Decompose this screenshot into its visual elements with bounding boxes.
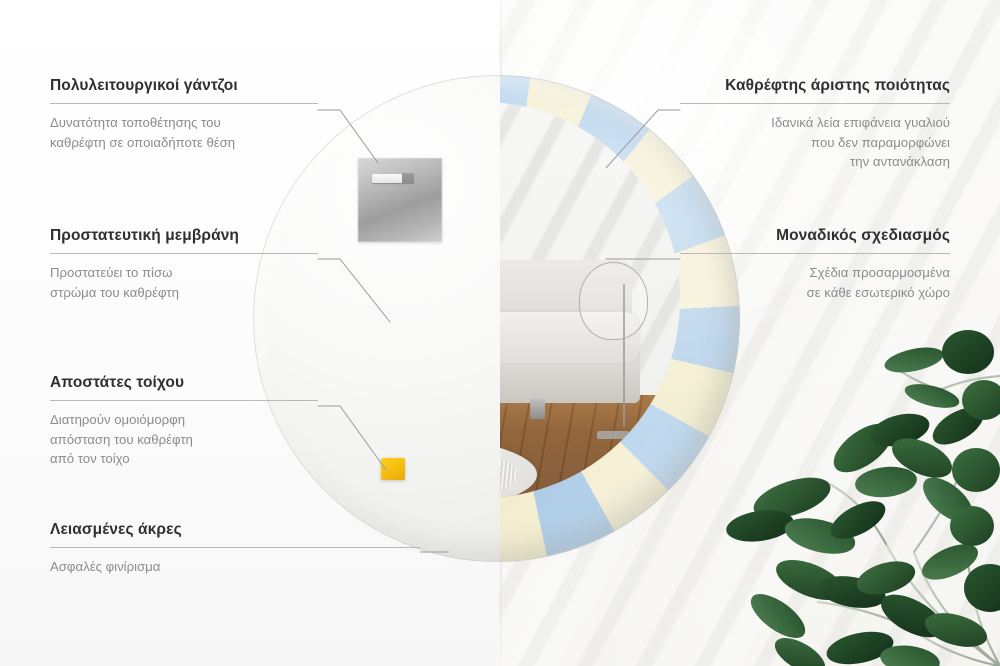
feature-rule-design [680, 253, 950, 254]
feature-title-quality: Καθρέφτης άριστης ποιότητας [680, 76, 950, 95]
feature-desc-line: Διατηρούν ομοιόμορφη [50, 412, 185, 427]
feature-desc-line: Σχέδια προσαρμοσμένα [810, 265, 950, 280]
feature-title-membrane: Προστατευτική μεμβράνη [50, 226, 318, 245]
feature-desc-line: απόσταση του καθρέφτη [50, 432, 193, 447]
feature-desc-line: Ιδανικά λεία επιφάνεια γυαλιού [771, 115, 950, 130]
feature-desc-edges: Ασφαλές φινίρισμα [50, 557, 420, 576]
feature-desc-line: την αντανάκλαση [850, 154, 950, 169]
feature-desc-hooks: Δυνατότητα τοποθέτησης του καθρέφτη σε ο… [50, 113, 318, 151]
feature-rule-membrane [50, 253, 318, 254]
reflected-sofa-leg [530, 399, 546, 419]
feature-desc-line: Ασφαλές φινίρισμα [50, 559, 160, 574]
feature-title-edges: Λειασμένες άκρες [50, 520, 420, 539]
feature-desc-line: καθρέφτη σε οποιαδήποτε θέση [50, 135, 235, 150]
feature-desc-line: από τον τοίχο [50, 451, 130, 466]
feature-desc-spacers: Διατηρούν ομοιόμορφη απόσταση του καθρέφ… [50, 410, 318, 467]
feature-desc-line: σε κάθε εσωτερικό χώρο [807, 285, 950, 300]
feature-desc-line: Δυνατότητα τοποθέτησης του [50, 115, 221, 130]
feature-desc-design: Σχέδια προσαρμοσμένα σε κάθε εσωτερικό χ… [680, 263, 950, 301]
infographic-canvas: Πολυλειτουργικοί γάντζοι Δυνατότητα τοπο… [0, 0, 1000, 666]
feature-block-hooks: Πολυλειτουργικοί γάντζοι Δυνατότητα τοπο… [50, 76, 318, 152]
reflected-lamp-base [597, 431, 629, 439]
feature-block-spacers: Αποστάτες τοίχου Διατηρούν ομοιόμορφη απ… [50, 373, 318, 468]
feature-title-spacers: Αποστάτες τοίχου [50, 373, 318, 392]
hook-keyhole-slot [372, 174, 414, 183]
feature-desc-membrane: Προστατεύει το πίσω στρώμα του καθρέφτη [50, 263, 318, 301]
mirror-product [253, 75, 748, 570]
feature-rule-spacers [50, 400, 318, 401]
feature-rule-hooks [50, 103, 318, 104]
reflected-lamp-shade [579, 262, 648, 339]
feature-block-design: Μοναδικός σχεδιασμός Σχέδια προσαρμοσμέν… [680, 226, 950, 302]
feature-block-membrane: Προστατευτική μεμβράνη Προστατεύει το πί… [50, 226, 318, 302]
feature-title-hooks: Πολυλειτουργικοί γάντζοι [50, 76, 318, 95]
wall-spacer [381, 458, 405, 480]
hook-plate [358, 158, 442, 242]
feature-desc-line: στρώμα του καθρέφτη [50, 285, 179, 300]
feature-block-quality: Καθρέφτης άριστης ποιότητας Ιδανικά λεία… [680, 76, 950, 171]
feature-title-design: Μοναδικός σχεδιασμός [680, 226, 950, 245]
feature-desc-line: Προστατεύει το πίσω [50, 265, 172, 280]
mirror-disc [253, 75, 740, 562]
reflected-lamp-pole [623, 284, 625, 427]
feature-block-edges: Λειασμένες άκρες Ασφαλές φινίρισμα [50, 520, 420, 577]
feature-rule-edges [50, 547, 420, 548]
feature-desc-quality: Ιδανικά λεία επιφάνεια γυαλιού που δεν π… [680, 113, 950, 170]
feature-desc-line: που δεν παραμορφώνει [811, 135, 950, 150]
feature-rule-quality [680, 103, 950, 104]
